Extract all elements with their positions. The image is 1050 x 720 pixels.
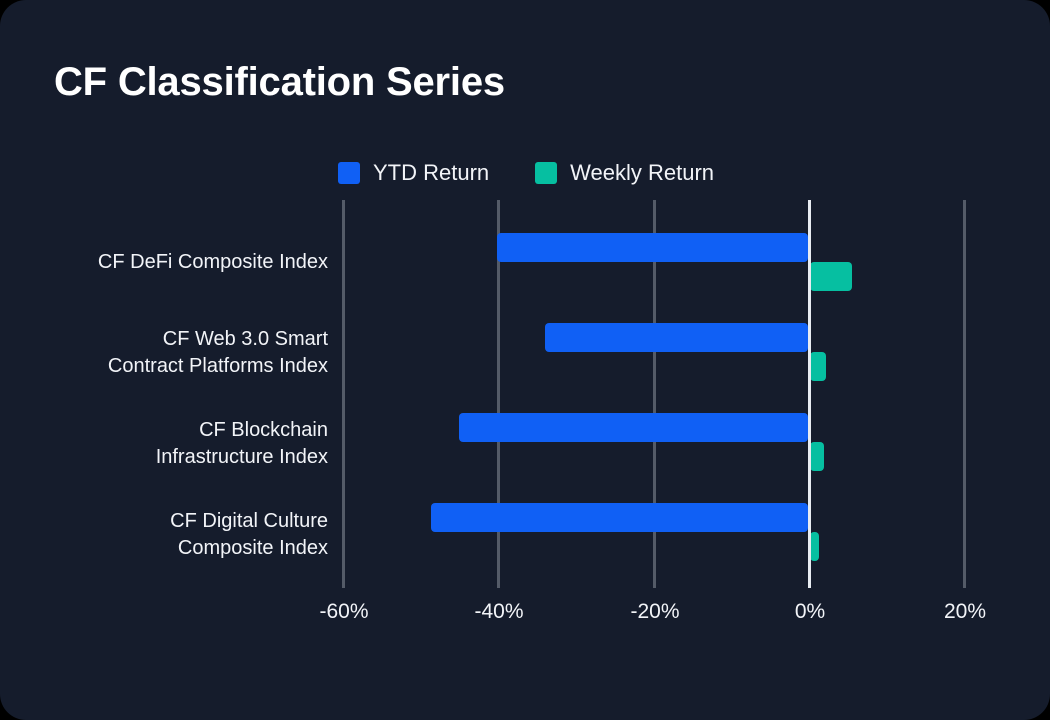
- y-axis-label-line: Composite Index: [40, 535, 328, 562]
- y-axis-label-defi-composite: CF DeFi Composite Index: [40, 249, 328, 276]
- y-axis-labels: CF DeFi Composite Index CF Web 3.0 Smart…: [40, 200, 328, 588]
- bar-ytd-web3-smart-contract[interactable]: [545, 323, 808, 352]
- x-axis-tick-zero: 0%: [795, 600, 825, 624]
- legend-label: Weekly Return: [570, 160, 714, 186]
- y-axis-label-line: Contract Platforms Index: [40, 353, 328, 380]
- y-axis-label-line: Infrastructure Index: [40, 444, 328, 471]
- x-axis-tick-plus-20: 20%: [944, 600, 986, 624]
- bar-weekly-defi-composite[interactable]: [810, 262, 852, 291]
- bar-ytd-digital-culture[interactable]: [431, 503, 808, 532]
- y-axis-label-web3-smart-contract: CF Web 3.0 Smart Contract Platforms Inde…: [40, 326, 328, 380]
- legend-item-ytd-return[interactable]: YTD Return: [338, 160, 489, 186]
- x-axis-tick-minus-40: -40%: [474, 600, 523, 624]
- chart-legend: YTD Return Weekly Return: [338, 160, 714, 186]
- y-axis-label-blockchain-infra: CF Blockchain Infrastructure Index: [40, 417, 328, 471]
- bar-weekly-web3-smart-contract[interactable]: [810, 352, 826, 381]
- x-axis-tick-minus-60: -60%: [319, 600, 368, 624]
- bar-ytd-blockchain-infra[interactable]: [459, 413, 808, 442]
- gridline-zero: [808, 200, 811, 588]
- square-swatch-icon: [338, 162, 360, 184]
- y-axis-label-line: CF Blockchain: [40, 417, 328, 444]
- legend-label: YTD Return: [373, 160, 489, 186]
- square-swatch-icon: [535, 162, 557, 184]
- y-axis-label-digital-culture: CF Digital Culture Composite Index: [40, 508, 328, 562]
- x-axis-tick-minus-20: -20%: [630, 600, 679, 624]
- bars-layer: [342, 200, 963, 588]
- y-axis-label-line: CF Web 3.0 Smart: [40, 326, 328, 353]
- gridline-plus-20: [963, 200, 966, 588]
- bar-ytd-defi-composite[interactable]: [497, 233, 808, 262]
- bar-weekly-blockchain-infra[interactable]: [810, 442, 824, 471]
- bar-weekly-digital-culture[interactable]: [810, 532, 819, 561]
- y-axis-label-line: CF DeFi Composite Index: [40, 249, 328, 276]
- y-axis-label-line: CF Digital Culture: [40, 508, 328, 535]
- chart-card: CF Classification Series YTD Return Week…: [0, 0, 1050, 720]
- x-axis-labels: -60% -40% -20% 0% 20%: [342, 600, 963, 634]
- legend-item-weekly-return[interactable]: Weekly Return: [535, 160, 714, 186]
- page-title: CF Classification Series: [54, 60, 505, 105]
